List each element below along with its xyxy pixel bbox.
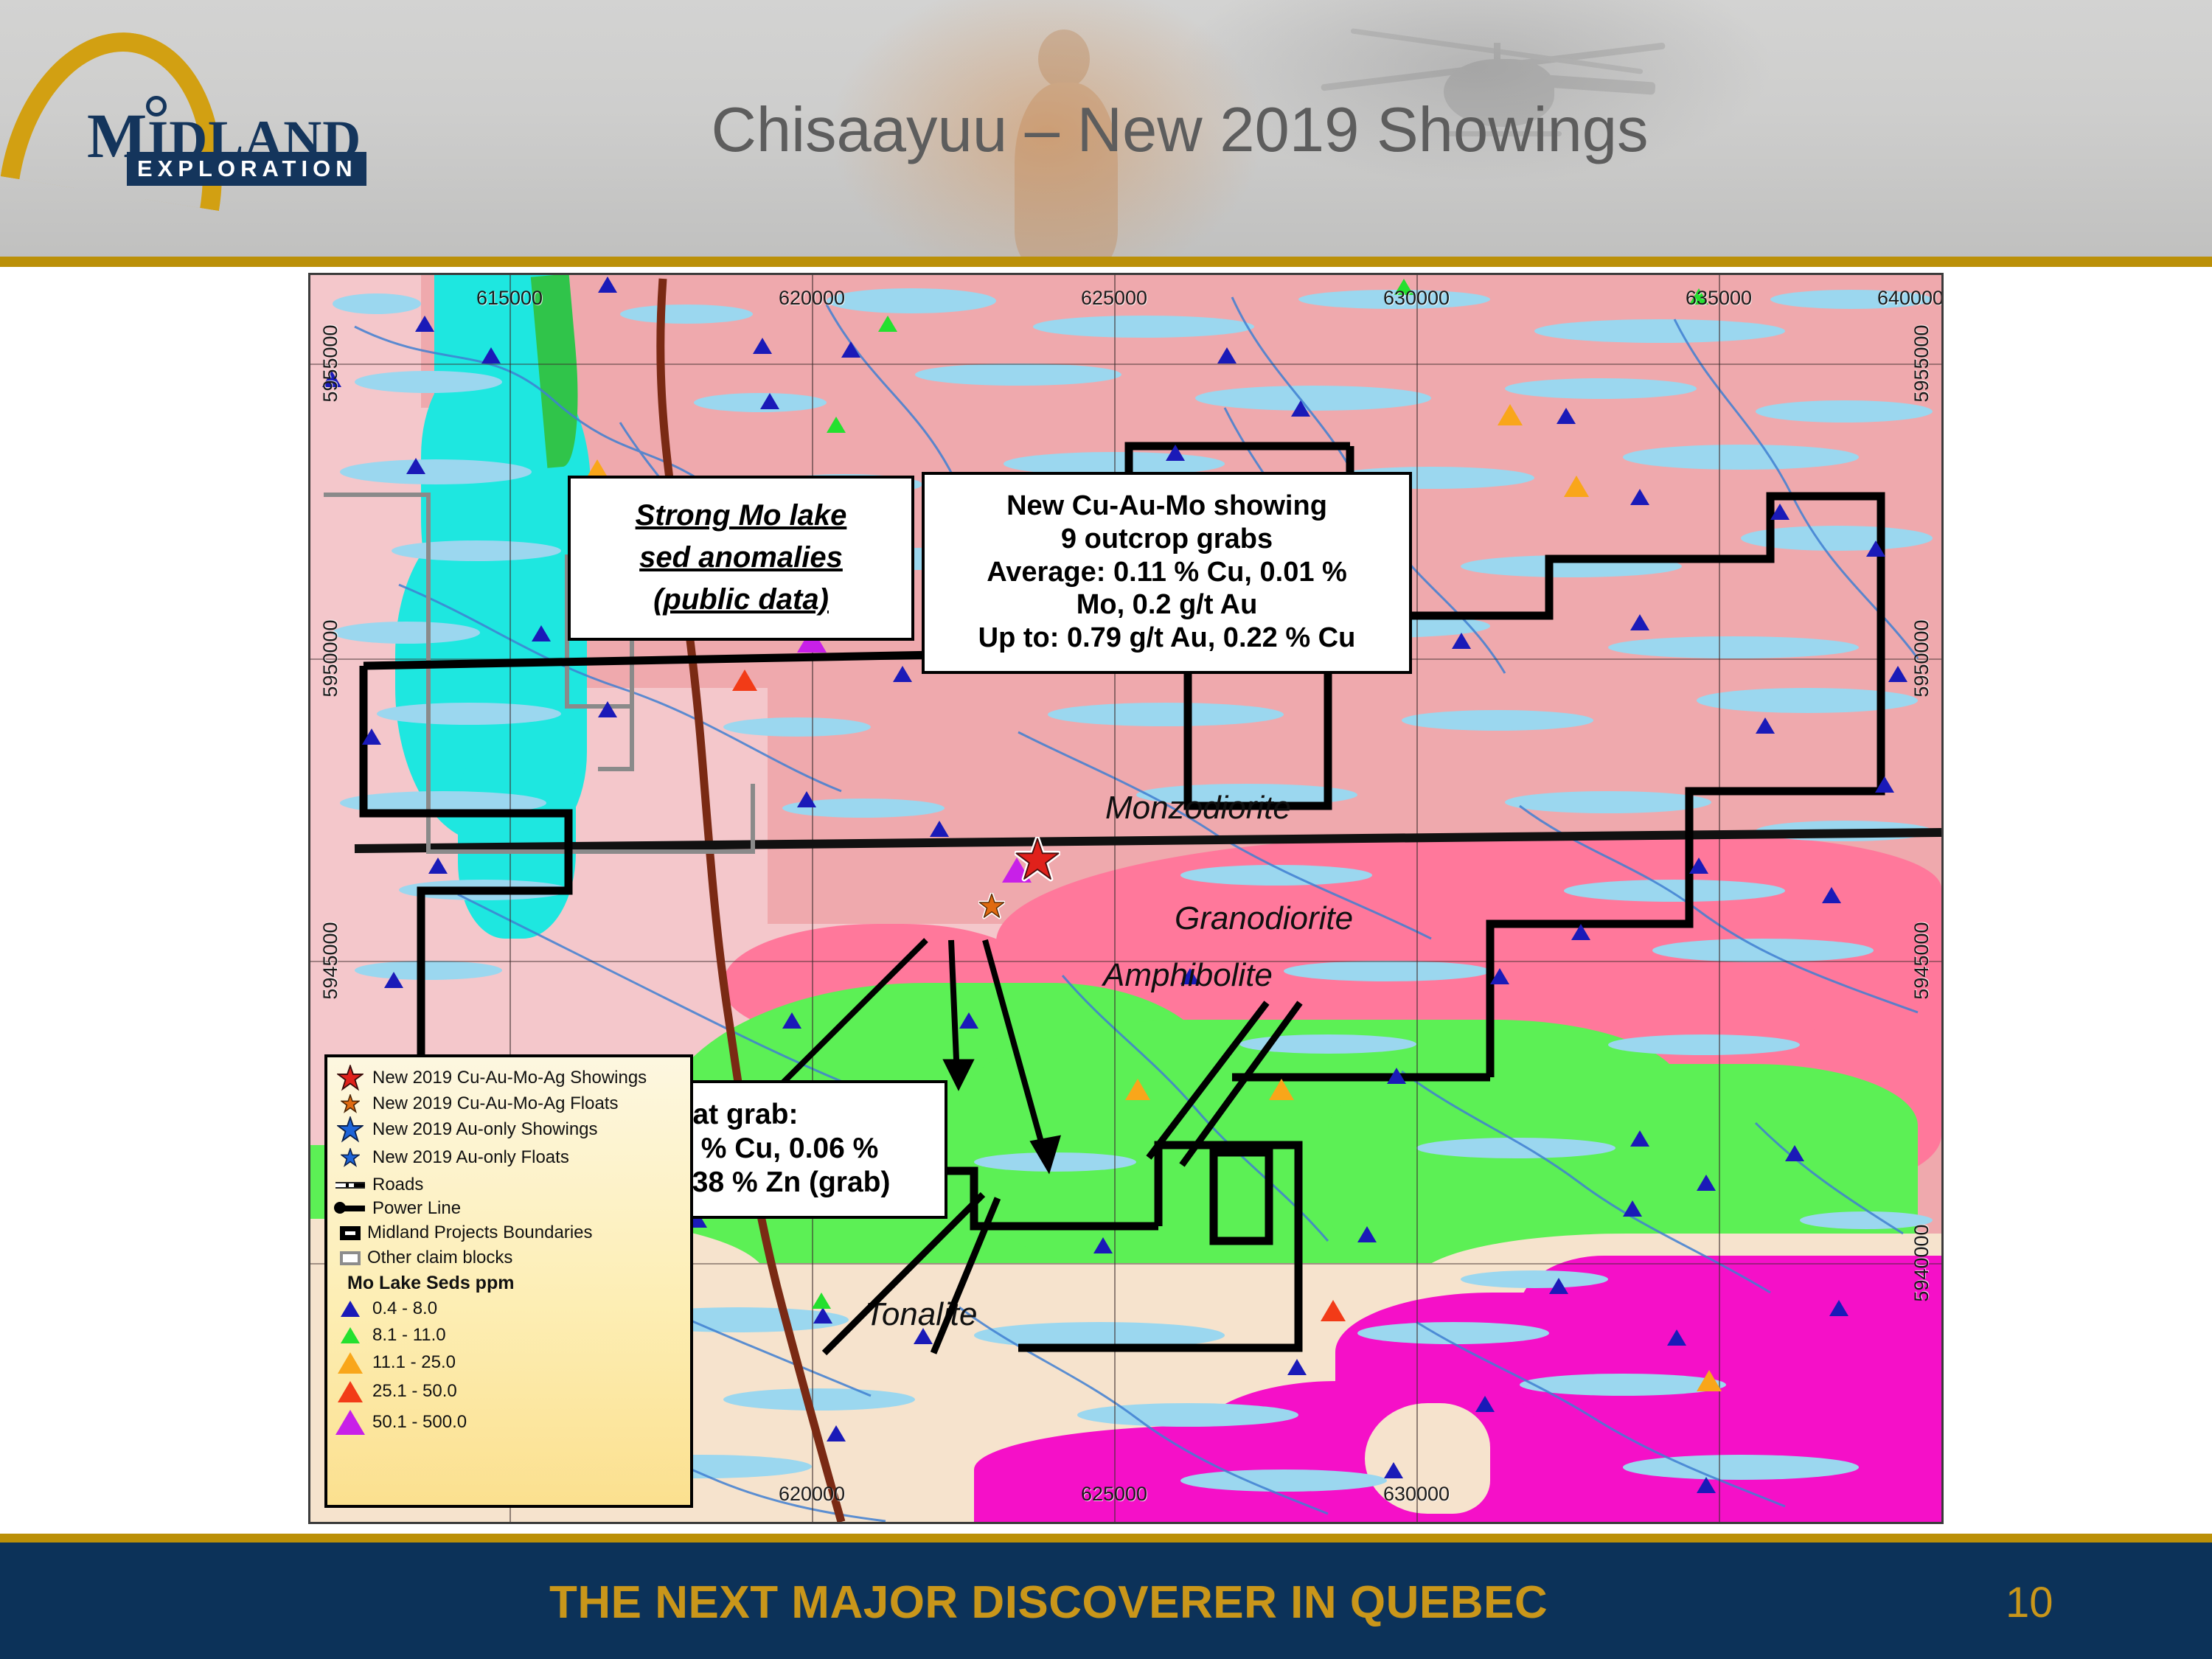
coord-label-left: 5950000 xyxy=(319,619,342,697)
star-blue-small-icon xyxy=(335,1148,366,1167)
geology-label-granodiorite: Granodiorite xyxy=(1175,900,1353,937)
star-blue-large-icon xyxy=(335,1116,366,1143)
callout-line: 9 outcrop grabs xyxy=(935,523,1399,556)
legend-label: New 2019 Au-only Floats xyxy=(372,1147,569,1168)
coord-label-top: 640000 xyxy=(1877,287,1944,310)
callout-line: Up to: 0.79 g/t Au, 0.22 % Cu xyxy=(935,622,1399,655)
legend-item-other-claims: Other claim blocks xyxy=(335,1245,684,1270)
legend-item-mo-class-1: 0.4 - 8.0 xyxy=(335,1295,684,1322)
legend-item-cu-showings: New 2019 Cu-Au-Mo-Ag Showings xyxy=(335,1065,684,1091)
triangle-red-icon xyxy=(335,1381,366,1402)
star-red-large-icon xyxy=(335,1065,366,1091)
legend-item-midland-boundaries: Midland Projects Boundaries xyxy=(335,1220,684,1245)
callout-line: sed anomalies xyxy=(578,537,904,579)
callout-line: Strong Mo lake xyxy=(578,495,904,537)
legend-heading-mo-lake-seds: Mo Lake Seds ppm xyxy=(335,1270,684,1295)
geology-label-tonalite: Tonalite xyxy=(865,1296,978,1333)
coord-label-top: 630000 xyxy=(1383,287,1450,310)
legend-item-au-showings: New 2019 Au-only Showings xyxy=(335,1116,684,1142)
callout-line: Average: 0.11 % Cu, 0.01 % xyxy=(935,556,1399,589)
callout-line: (public data) xyxy=(578,579,904,621)
legend-label: Midland Projects Boundaries xyxy=(367,1222,593,1243)
page-number: 10 xyxy=(2006,1578,2053,1627)
legend-item-mo-class-5: 50.1 - 500.0 xyxy=(335,1406,684,1439)
triangle-orange-icon xyxy=(335,1352,366,1374)
coord-label-top: 620000 xyxy=(779,287,845,310)
legend-item-power-line: Power Line xyxy=(335,1197,684,1220)
callout-mo-anomalies: Strong Mo lake sed anomalies (public dat… xyxy=(568,476,914,641)
legend-item-roads: Roads xyxy=(335,1173,684,1197)
coord-label-top: 625000 xyxy=(1081,287,1147,310)
footer-tagline: THE NEXT MAJOR DISCOVERER IN QUEBEC xyxy=(549,1576,1548,1629)
legend-label: 0.4 - 8.0 xyxy=(372,1298,437,1319)
coord-label-right: 5950000 xyxy=(1910,619,1933,697)
logo-subtitle: EXPLORATION xyxy=(127,152,366,186)
coord-label-top: 615000 xyxy=(476,287,543,310)
callout-line: New Cu-Au-Mo showing xyxy=(935,490,1399,523)
legend-label: 50.1 - 500.0 xyxy=(372,1412,467,1433)
geology-label-monzodiorite: Monzodiorite xyxy=(1105,790,1291,827)
map-legend: New 2019 Cu-Au-Mo-Ag Showings New 2019 C… xyxy=(324,1054,693,1508)
triangle-blue-icon xyxy=(335,1301,366,1317)
coord-label-left: 5945000 xyxy=(319,922,342,999)
footer-gold-divider xyxy=(0,1534,2212,1543)
float-star-cu-au-mo-ag[interactable] xyxy=(978,893,1005,919)
legend-label: Roads xyxy=(372,1175,423,1195)
showing-star-cu-au-mo-ag[interactable] xyxy=(1015,837,1060,883)
coord-label-bottom: 620000 xyxy=(779,1483,845,1506)
legend-heading-label: Mo Lake Seds ppm xyxy=(347,1273,514,1294)
gray-rect-outline-icon xyxy=(335,1251,366,1265)
coord-label-bottom: 625000 xyxy=(1081,1483,1147,1506)
coord-label-bottom: 630000 xyxy=(1383,1483,1450,1506)
legend-label: 11.1 - 25.0 xyxy=(372,1352,456,1373)
legend-label: Other claim blocks xyxy=(367,1248,512,1268)
coord-label-left: 5955000 xyxy=(319,324,342,402)
triangle-green-icon xyxy=(335,1327,366,1343)
legend-item-mo-class-3: 11.1 - 25.0 xyxy=(335,1349,684,1377)
page-title: Chisaayuu – New 2019 Showings xyxy=(516,94,1843,167)
coord-label-top: 635000 xyxy=(1686,287,1752,310)
legend-label: 25.1 - 50.0 xyxy=(372,1381,457,1402)
legend-label: 8.1 - 11.0 xyxy=(372,1325,446,1346)
star-orange-small-icon xyxy=(335,1094,366,1113)
logo-circle-icon xyxy=(146,96,167,116)
coord-label-right: 5955000 xyxy=(1910,324,1933,402)
legend-label: New 2019 Cu-Au-Mo-Ag Showings xyxy=(372,1068,647,1088)
legend-label: Power Line xyxy=(372,1198,461,1219)
legend-item-mo-class-2: 8.1 - 11.0 xyxy=(335,1322,684,1349)
geology-label-amphibolite: Amphibolite xyxy=(1103,957,1273,994)
legend-item-mo-class-4: 25.1 - 50.0 xyxy=(335,1377,684,1406)
callout-cu-au-mo-showing: New Cu-Au-Mo showing 9 outcrop grabs Ave… xyxy=(922,472,1412,674)
road-dash-line-icon xyxy=(335,1182,366,1189)
coord-label-right: 5940000 xyxy=(1910,1224,1933,1301)
legend-label: New 2019 Cu-Au-Mo-Ag Floats xyxy=(372,1093,618,1114)
slide-root: MIDLAND EXPLORATION Chisaayuu – New 2019… xyxy=(0,0,2212,1659)
midland-exploration-logo: MIDLAND EXPLORATION xyxy=(7,16,391,205)
black-rect-outline-icon xyxy=(335,1226,366,1240)
triangle-purple-icon xyxy=(335,1410,366,1435)
callout-line: Mo, 0.2 g/t Au xyxy=(935,588,1399,622)
power-line-icon xyxy=(335,1206,366,1211)
coord-label-right: 5945000 xyxy=(1910,922,1933,999)
slide-header: MIDLAND EXPLORATION Chisaayuu – New 2019… xyxy=(0,0,2212,260)
header-gold-divider xyxy=(0,257,2212,267)
legend-item-au-floats: New 2019 Au-only Floats xyxy=(335,1142,684,1173)
legend-label: New 2019 Au-only Showings xyxy=(372,1119,598,1140)
legend-item-cu-floats: New 2019 Cu-Au-Mo-Ag Floats xyxy=(335,1091,684,1116)
